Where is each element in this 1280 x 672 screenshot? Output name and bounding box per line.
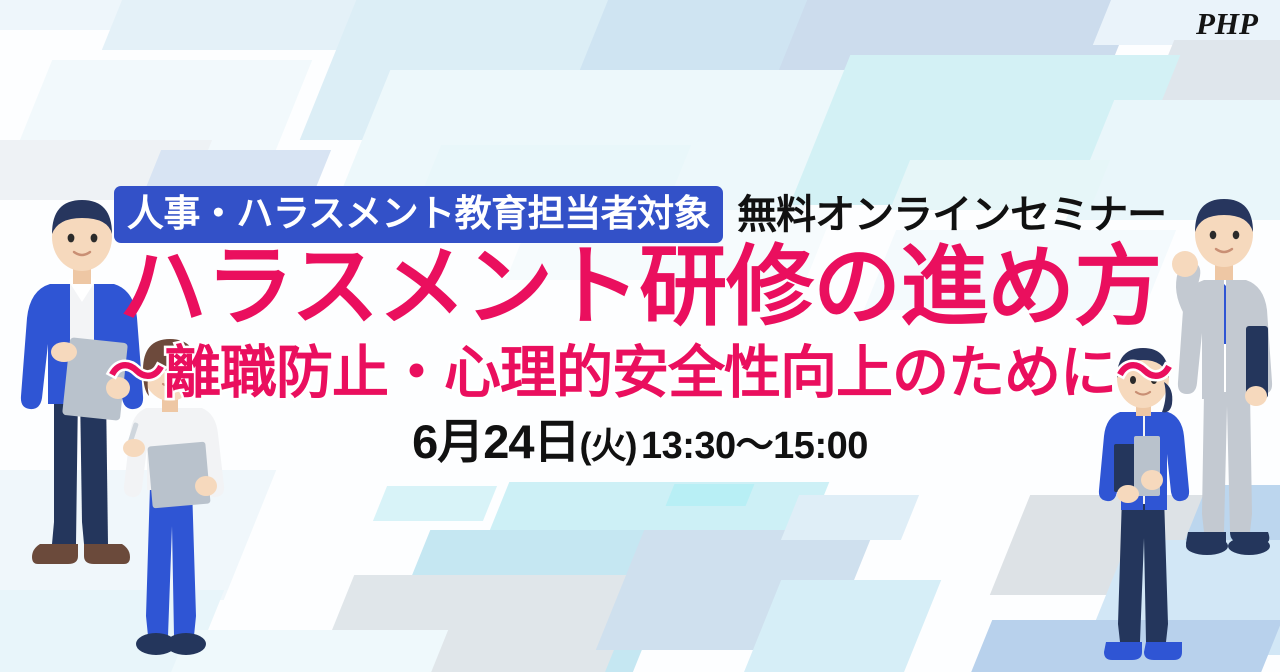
seminar-type-label: 無料オンラインセミナー: [737, 195, 1166, 235]
page-title: ハラスメント研修の進め方: [0, 243, 1280, 331]
schedule-line: 6月24日(火) 13:30〜15:00: [0, 418, 1280, 465]
seminar-banner: PHP: [0, 0, 1280, 672]
page-subtitle: 〜離職防止・心理的安全性向上のために〜: [0, 345, 1280, 402]
schedule-date: 6月24日: [412, 415, 579, 468]
schedule-weekday: (火): [580, 425, 637, 466]
banner-text-content: 人事・ハラスメント教育担当者対象 無料オンラインセミナー ハラスメント研修の進め…: [0, 0, 1280, 672]
audience-badge: 人事・ハラスメント教育担当者対象: [114, 186, 723, 243]
schedule-time: 13:30〜15:00: [641, 425, 868, 467]
header-line: 人事・ハラスメント教育担当者対象 無料オンラインセミナー: [0, 186, 1280, 243]
